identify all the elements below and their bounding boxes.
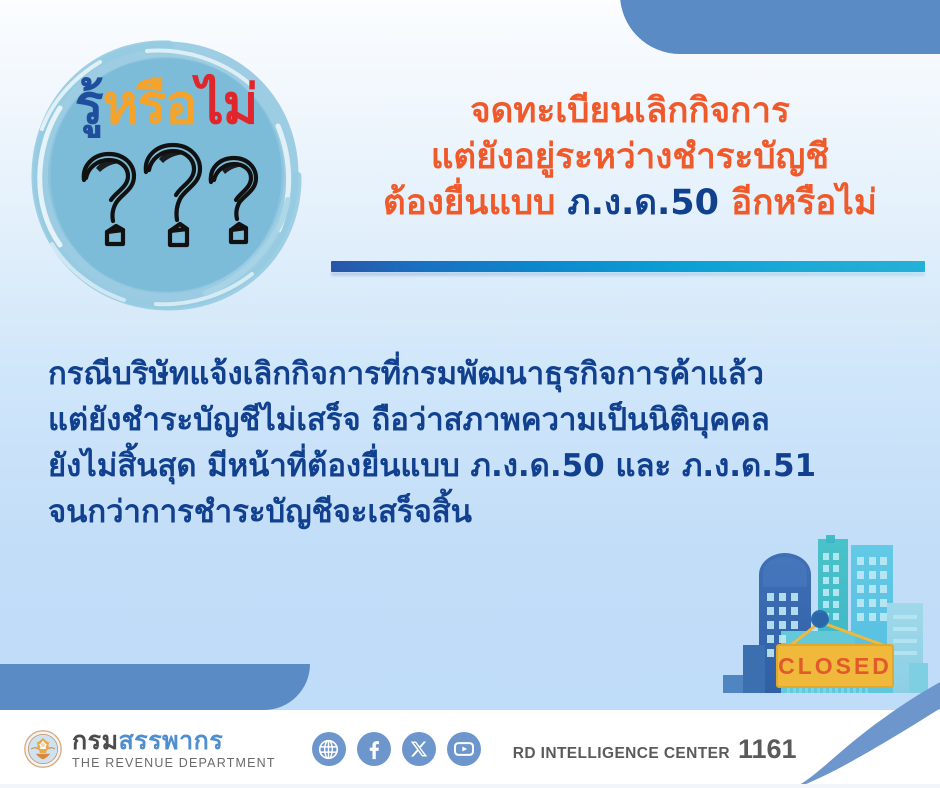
- know-or-not-badge: รู้หรือไม่: [16, 36, 316, 314]
- body-copy: กรณีบริษัทแจ้งเลิกกิจการที่กรมพัฒนาธุรกิ…: [48, 352, 908, 536]
- headline-form-code: ภ.ง.ด.50: [568, 183, 719, 223]
- rdic-number: 1161: [738, 734, 797, 765]
- garuda-emblem-icon: [24, 730, 62, 768]
- revenue-department-names: กรมสรรพากร THE REVENUE DEPARTMENT: [72, 728, 276, 770]
- org-name-thai-blue: สรรพากร: [119, 726, 224, 755]
- badge-word-not: ไม่: [197, 73, 258, 136]
- social-link-youtube[interactable]: [447, 732, 481, 766]
- headline-divider-shadow: [331, 272, 925, 276]
- headline-line-2: แต่ยังอยู่ระหว่างชำระบัญชี: [330, 134, 930, 180]
- youtube-icon: [453, 738, 475, 760]
- headline-line-3: ต้องยื่นแบบ ภ.ง.ด.50 อีกหรือไม่: [330, 180, 930, 226]
- top-right-decoration: [620, 0, 940, 54]
- headline-divider: [331, 261, 925, 272]
- headline-line-3-suffix: อีกหรือไม่: [719, 183, 877, 223]
- social-link-x[interactable]: [402, 732, 436, 766]
- rdic-label: RD INTELLIGENCE CENTER: [513, 745, 730, 763]
- rd-intelligence-center: RD INTELLIGENCE CENTER 1161: [513, 734, 797, 765]
- badge-headline: รู้หรือไม่: [75, 78, 258, 132]
- poster-canvas: รู้หรือไม่: [0, 0, 940, 788]
- question-marks-group: [66, 138, 266, 250]
- headline: จดทะเบียนเลิกกิจการ แต่ยังอยู่ระหว่างชำร…: [330, 88, 930, 227]
- org-name-thai-dark: กรม: [72, 726, 119, 755]
- body-line: กรณีบริษัทแจ้งเลิกกิจการที่กรมพัฒนาธุรกิ…: [48, 352, 908, 398]
- footer: กรมสรรพากร THE REVENUE DEPARTMENT: [0, 710, 940, 788]
- social-link-website[interactable]: [312, 732, 346, 766]
- badge-word-or: หรือ: [103, 73, 197, 136]
- org-name-english: THE REVENUE DEPARTMENT: [72, 756, 276, 770]
- social-link-facebook[interactable]: [357, 732, 391, 766]
- headline-line-3-prefix: ต้องยื่นแบบ: [383, 183, 567, 223]
- bottom-blue-band: [0, 664, 310, 710]
- globe-icon: [318, 739, 339, 760]
- facebook-icon: [363, 739, 384, 760]
- org-name-thai: กรมสรรพากร: [72, 728, 276, 753]
- body-line: แต่ยังชำระบัญชีไม่เสร็จ ถือว่าสภาพความเป…: [48, 398, 908, 444]
- body-line: จนกว่าการชำระบัญชีจะเสร็จสิ้น: [48, 490, 908, 536]
- body-line: ยังไม่สิ้นสุด มีหน้าที่ต้องยื่นแบบ ภ.ง.ด…: [48, 444, 908, 490]
- badge-word-know: รู้: [75, 73, 103, 136]
- social-links: [312, 732, 481, 766]
- revenue-department-logo: กรมสรรพากร THE REVENUE DEPARTMENT: [24, 728, 276, 770]
- badge-content: รู้หรือไม่: [16, 36, 316, 314]
- question-marks-icon: [66, 138, 266, 250]
- headline-line-1: จดทะเบียนเลิกกิจการ: [330, 88, 930, 134]
- x-twitter-icon: [410, 740, 428, 758]
- closed-sign-label: CLOSED: [778, 653, 892, 679]
